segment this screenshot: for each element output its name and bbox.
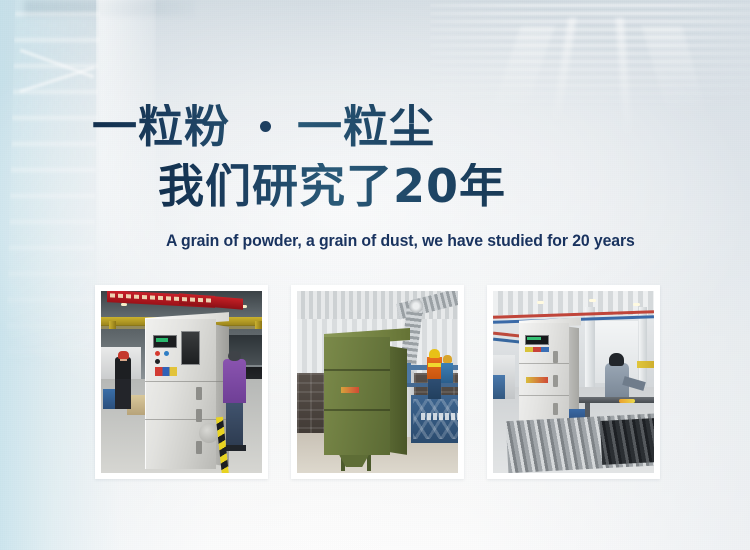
photo-dust-collector-grey-factory [101, 291, 262, 473]
photo-frame-3 [487, 285, 660, 479]
photo-frame-1 [95, 285, 268, 479]
headline-block: 一粒粉 一粒尘 我们研究了20年 [0, 104, 750, 209]
photo-dust-collector-green-workshop [297, 291, 458, 473]
headline-line-2: 我们研究了20年 [158, 163, 750, 209]
headline-phrase-powder: 一粒粉 [92, 104, 230, 149]
subtitle-text: A grain of powder, a grain of dust, we h… [166, 231, 635, 251]
photo-frame-2 [291, 285, 464, 479]
headline-phrase-dust: 一粒尘 [297, 104, 435, 149]
photo-dust-collector-grey-workshop [493, 291, 654, 473]
photo-gallery [95, 285, 660, 479]
promotional-banner: 一粒粉 一粒尘 我们研究了20年 A grain of powder, a gr… [0, 0, 750, 550]
headline-line-1: 一粒粉 一粒尘 [92, 104, 750, 149]
separator-dot-icon [260, 121, 271, 132]
